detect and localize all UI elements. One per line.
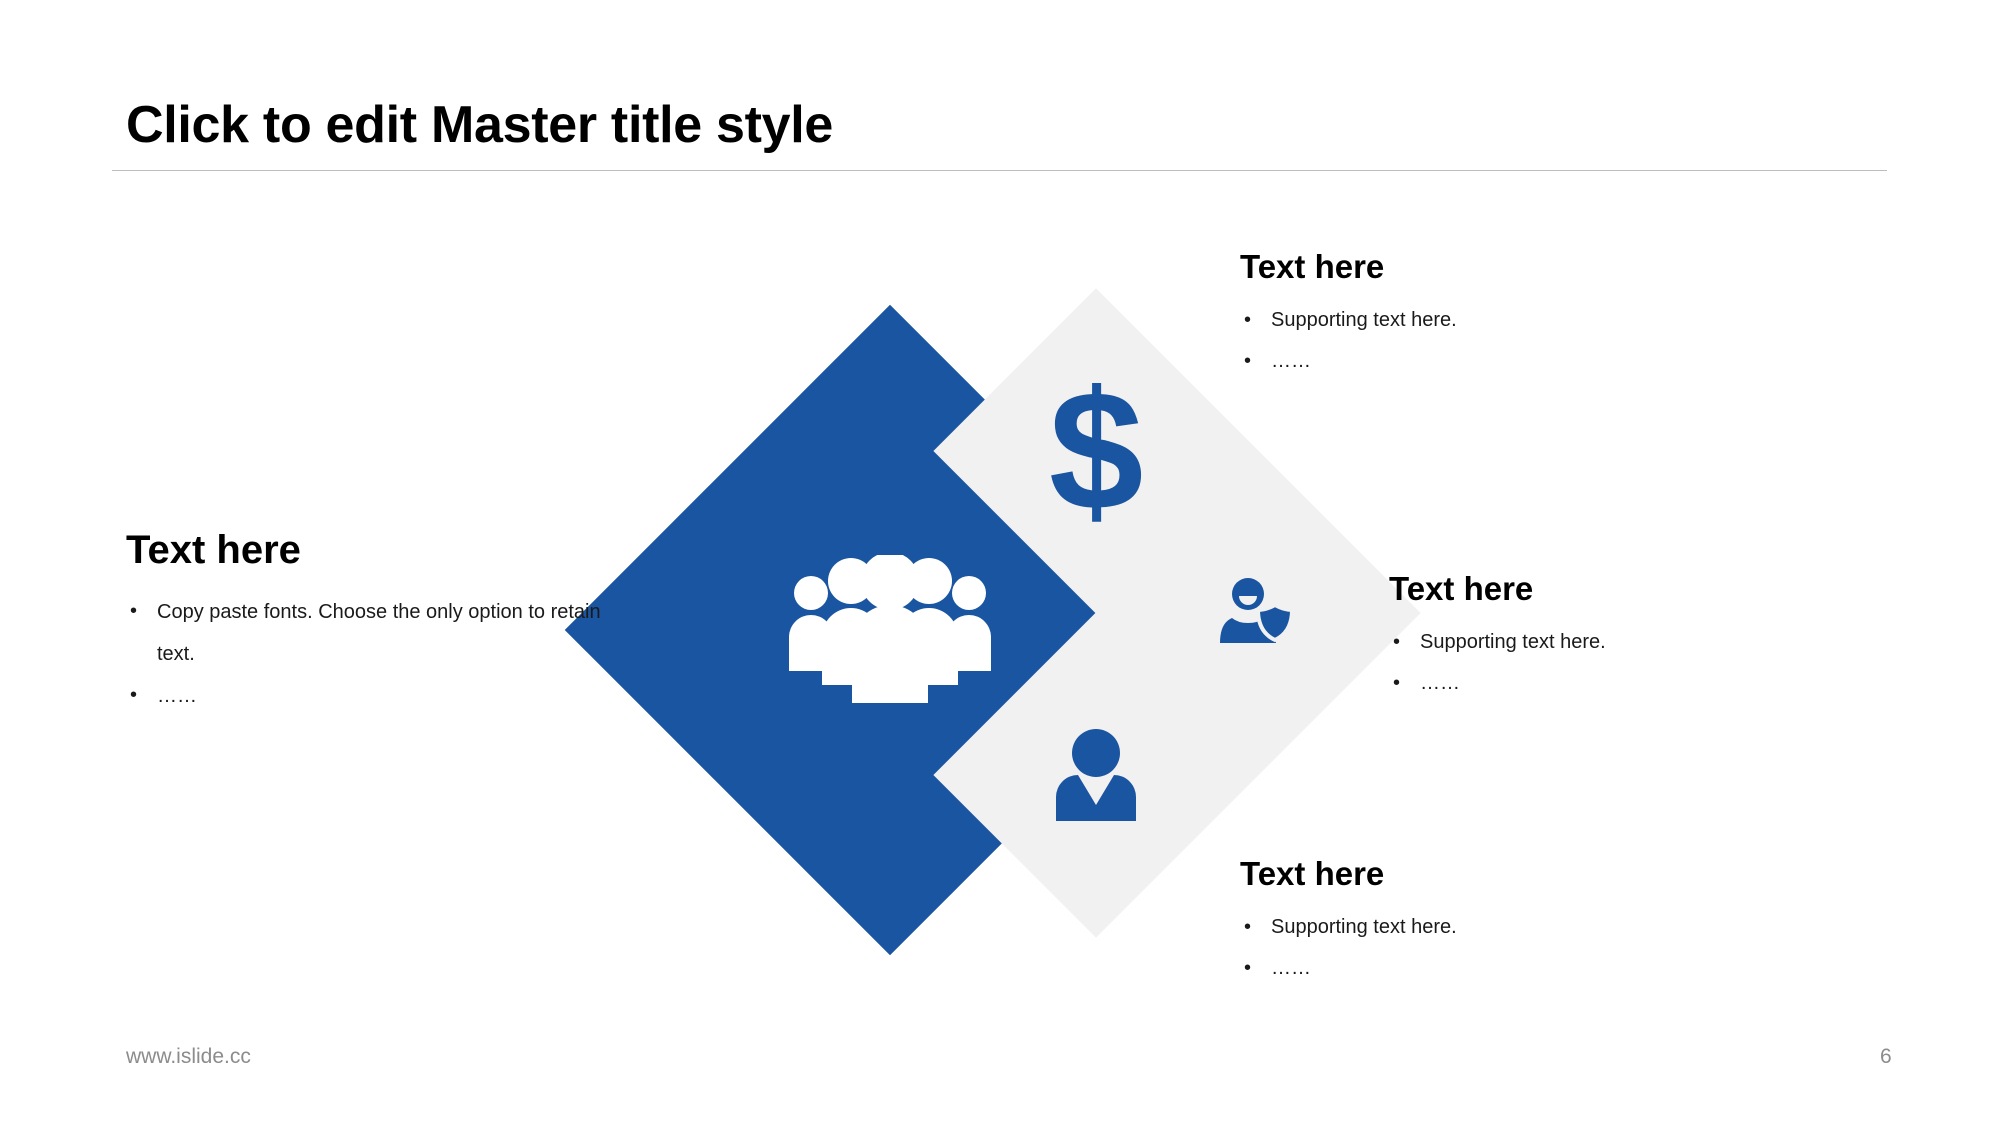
list-item[interactable]: …… xyxy=(1240,341,1760,382)
bullet-list: Supporting text here. …… xyxy=(1240,300,1760,382)
page-title[interactable]: Click to edit Master title style xyxy=(126,95,833,155)
bullet-list: Supporting text here. …… xyxy=(1389,622,1909,704)
title-divider xyxy=(112,170,1887,171)
diamond-person[interactable] xyxy=(933,612,1258,937)
bullet-list: Copy paste fonts. Choose the only option… xyxy=(126,591,626,717)
list-item[interactable]: …… xyxy=(1240,948,1760,989)
block-heading[interactable]: Text here xyxy=(1389,570,1909,608)
diamond-money[interactable]: $ xyxy=(933,288,1258,613)
list-item[interactable]: …… xyxy=(1389,663,1909,704)
footer-url[interactable]: www.islide.cc xyxy=(126,1045,251,1069)
dollar-sign-icon: $ xyxy=(1049,366,1144,536)
page-number: 6 xyxy=(1880,1045,1892,1069)
text-block-mid-right: Text here Supporting text here. …… xyxy=(1389,570,1909,704)
group-of-people-icon xyxy=(785,555,995,705)
list-item[interactable]: Supporting text here. xyxy=(1240,300,1760,341)
single-person-icon xyxy=(1053,727,1139,823)
list-item[interactable]: Supporting text here. xyxy=(1389,622,1909,663)
list-item[interactable]: …… xyxy=(126,675,626,717)
diamond-main[interactable] xyxy=(565,305,1216,956)
list-item[interactable]: Copy paste fonts. Choose the only option… xyxy=(126,591,626,675)
block-heading[interactable]: Text here xyxy=(126,528,626,573)
list-item[interactable]: Supporting text here. xyxy=(1240,907,1760,948)
bullet-list: Supporting text here. …… xyxy=(1240,907,1760,989)
slide-canvas: Click to edit Master title style xyxy=(0,0,2000,1125)
user-shield-icon xyxy=(1218,577,1298,649)
text-block-top-right: Text here Supporting text here. …… xyxy=(1240,248,1760,382)
block-heading[interactable]: Text here xyxy=(1240,248,1760,286)
block-heading[interactable]: Text here xyxy=(1240,855,1760,893)
text-block-left: Text here Copy paste fonts. Choose the o… xyxy=(126,528,626,717)
diamond-shield[interactable] xyxy=(1095,450,1420,775)
text-block-bottom-right: Text here Supporting text here. …… xyxy=(1240,855,1760,989)
